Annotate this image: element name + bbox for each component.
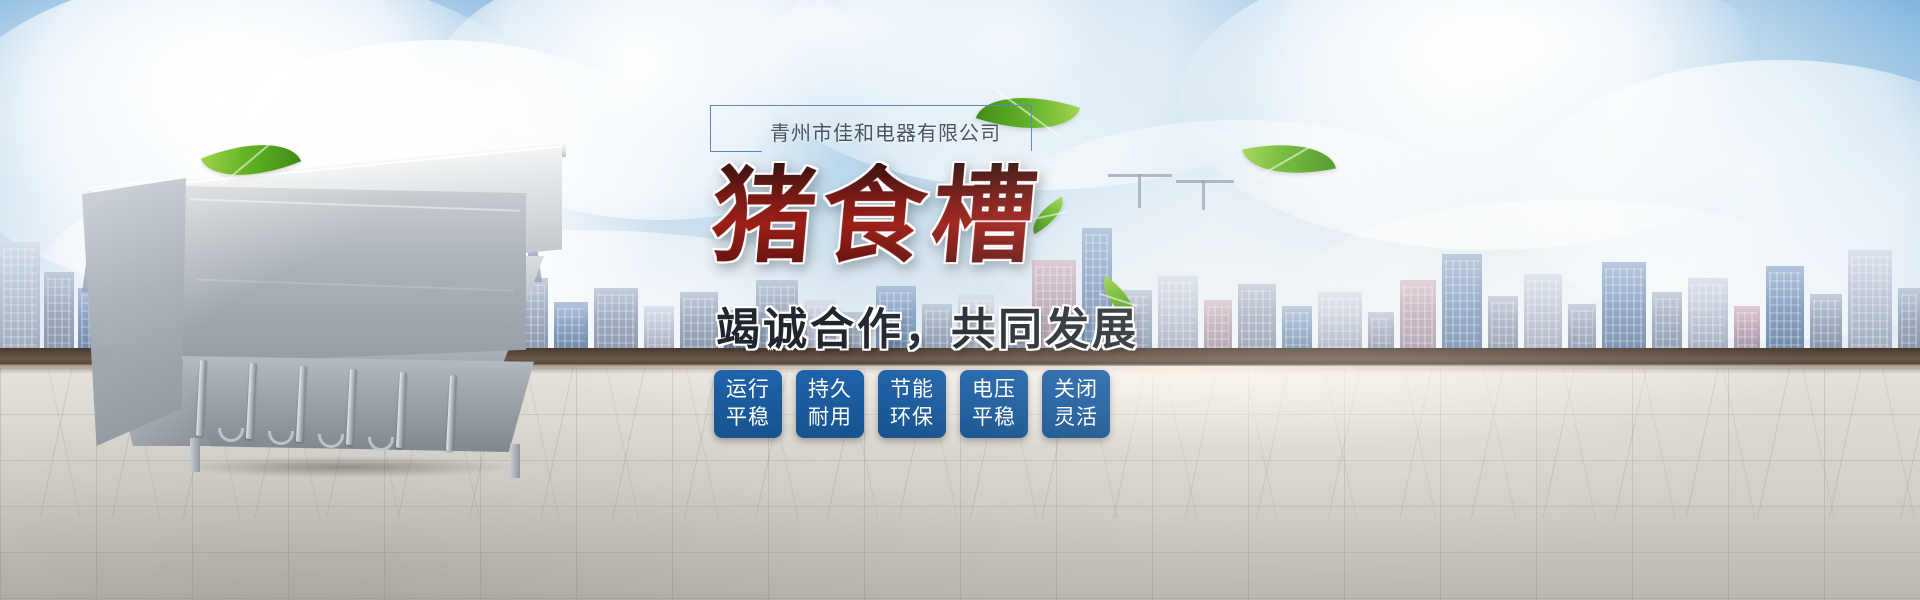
banner-copy-block: 青州市佳和电器有限公司 猪食槽 竭诚合作，共同发展 运行 平稳 持久 耐用 节能… [690, 95, 1250, 515]
trough-leg [510, 444, 520, 478]
feature-badge-2[interactable]: 持久 耐用 [796, 370, 864, 438]
badge-line-1: 持久 [808, 376, 852, 404]
feature-badge-1[interactable]: 运行 平稳 [714, 370, 782, 438]
company-name: 青州市佳和电器有限公司 [770, 117, 1001, 146]
badge-line-2: 环保 [890, 404, 934, 432]
badge-line-2: 平稳 [972, 404, 1016, 432]
badge-line-1: 运行 [726, 376, 770, 404]
product-image-feeder-trough [70, 160, 590, 470]
badge-line-2: 平稳 [726, 404, 770, 432]
tagline: 竭诚合作，共同发展 [716, 293, 1139, 357]
badge-line-1: 节能 [890, 376, 934, 404]
company-name-row: 青州市佳和电器有限公司 [702, 95, 1122, 151]
promo-banner: 青州市佳和电器有限公司 猪食槽 竭诚合作，共同发展 运行 平稳 持久 耐用 节能… [0, 0, 1920, 600]
badge-line-2: 灵活 [1054, 404, 1098, 432]
badge-line-2: 耐用 [808, 404, 852, 432]
trough-leg [190, 438, 200, 472]
feature-badge-5[interactable]: 关闭 灵活 [1042, 370, 1110, 438]
feature-badge-4[interactable]: 电压 平稳 [960, 370, 1028, 438]
page-title: 猪食槽 [707, 163, 1046, 269]
trough-left-side-panel [82, 178, 186, 446]
trough-inner-wall [174, 186, 526, 364]
badge-line-1: 关闭 [1054, 376, 1098, 404]
feature-badge-list: 运行 平稳 持久 耐用 节能 环保 电压 平稳 关闭 灵活 [714, 370, 1110, 438]
feature-badge-3[interactable]: 节能 环保 [878, 370, 946, 438]
badge-line-1: 电压 [972, 376, 1016, 404]
